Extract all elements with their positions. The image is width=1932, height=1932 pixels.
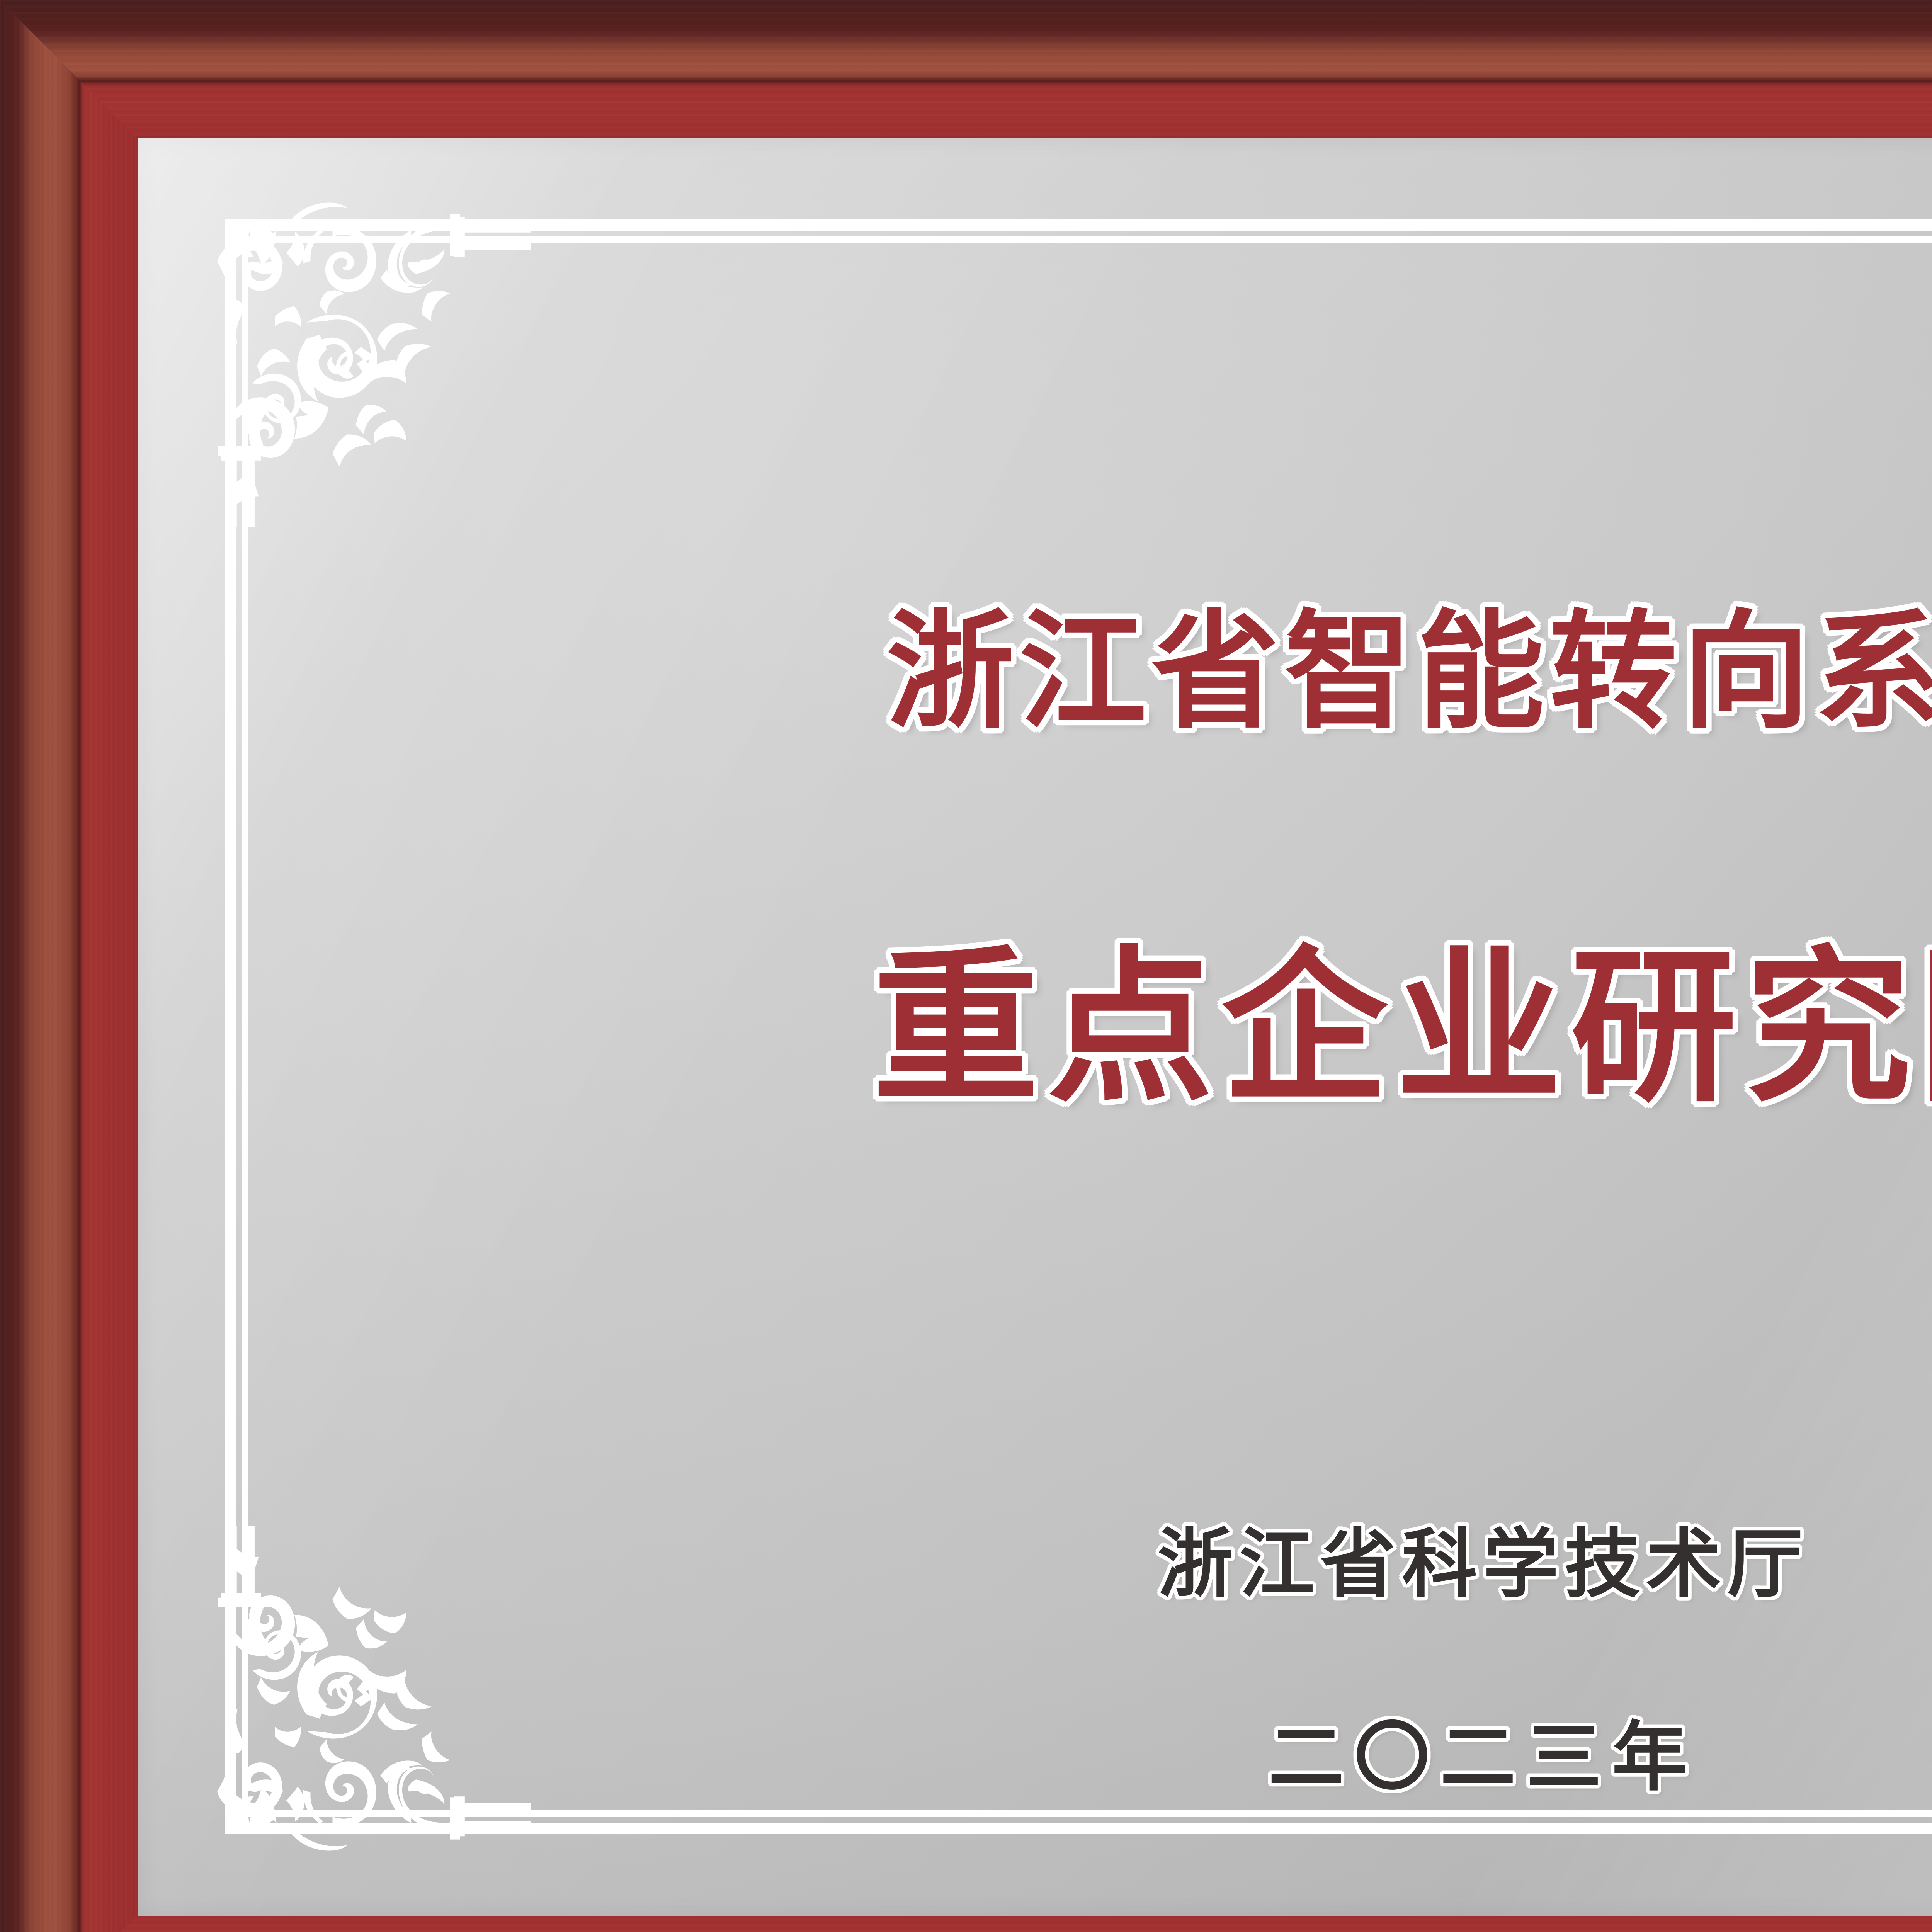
wood-grain-left bbox=[0, 0, 139, 1932]
award-title-line-1: 浙江省智能转向系统 bbox=[138, 607, 1932, 735]
frame-rail-left bbox=[0, 0, 139, 1932]
corner-flourish-bottom-left bbox=[207, 1526, 531, 1851]
plate-sheen bbox=[138, 138, 1932, 1916]
issuing-authority: 浙江省科学技术厅 bbox=[138, 1526, 1932, 1602]
silver-plate: 浙江省智能转向系统 重点企业研究院 浙江省科学技术厅 二〇二三年 bbox=[138, 138, 1932, 1916]
inner-border-outer bbox=[225, 219, 1932, 1834]
award-plaque: 浙江省智能转向系统 重点企业研究院 浙江省科学技术厅 二〇二三年 bbox=[0, 0, 1932, 1932]
award-year: 二〇二三年 bbox=[138, 1719, 1932, 1795]
award-title-line-2: 重点企业研究院 bbox=[138, 944, 1932, 1111]
plaque-content: 浙江省智能转向系统 重点企业研究院 浙江省科学技术厅 二〇二三年 bbox=[138, 138, 1932, 1916]
inner-border-inner bbox=[242, 236, 1932, 1817]
corner-flourish-top-left bbox=[207, 202, 531, 527]
